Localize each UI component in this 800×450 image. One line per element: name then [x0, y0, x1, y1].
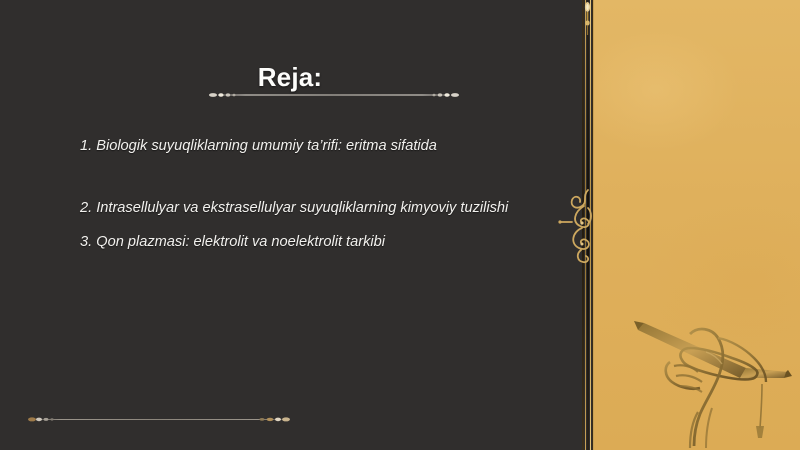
vertical-ornamental-border	[580, 0, 596, 450]
agenda-list: 1. Biologik suyuqliklarning umumiy ta’ri…	[80, 136, 540, 252]
list-item: 1. Biologik suyuqliklarning umumiy ta’ri…	[80, 136, 540, 156]
list-item: 3. Qon plazmasi: elektrolit va noelektro…	[80, 232, 540, 252]
title-divider-ornament	[208, 88, 460, 100]
scroll-flourish-ornament	[558, 186, 600, 268]
bottom-divider-ornament	[28, 412, 290, 424]
hand-holding-pen-icon	[620, 296, 798, 450]
list-item: 2. Intrasellulyar va ekstrasellulyar suy…	[80, 198, 540, 218]
divider-top-cap-ornament	[583, 2, 592, 36]
presentation-slide: Reja:	[0, 0, 800, 450]
